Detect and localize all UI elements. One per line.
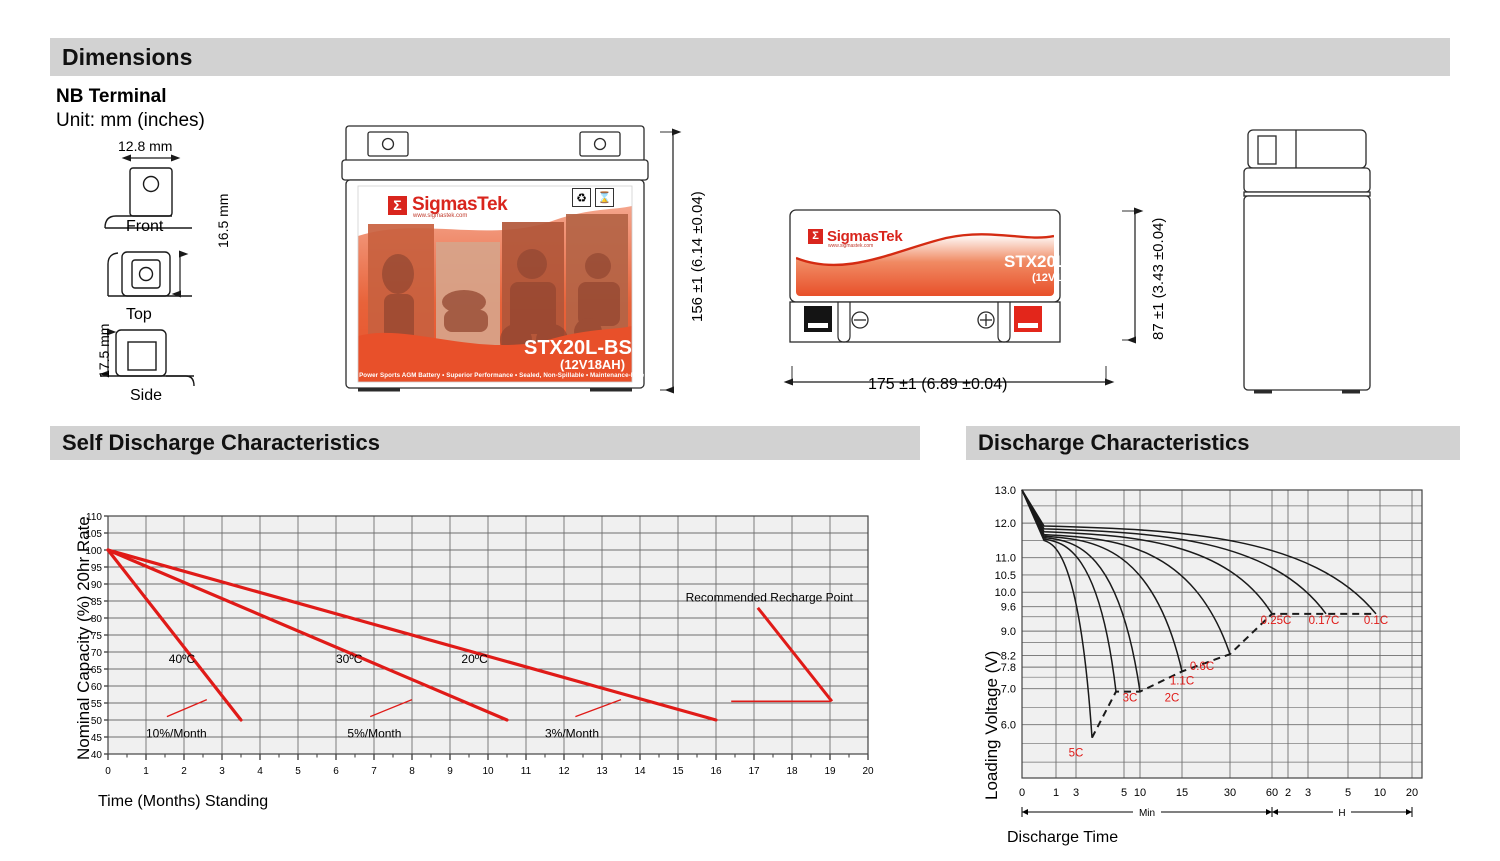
svg-text:15: 15 (1176, 787, 1188, 799)
svg-text:3: 3 (219, 766, 225, 777)
svg-text:14: 14 (634, 766, 646, 777)
svg-text:7: 7 (371, 766, 377, 777)
dimensions-title: Dimensions (62, 44, 192, 71)
svg-text:8.2: 8.2 (1001, 651, 1016, 663)
battery-height-dimension-line (660, 128, 686, 394)
label-icons-front: ♻ ⌛ (572, 188, 614, 207)
svg-text:3: 3 (1305, 787, 1311, 799)
svg-text:20: 20 (1406, 787, 1418, 799)
svg-text:2: 2 (181, 766, 187, 777)
svg-text:15: 15 (672, 766, 684, 777)
discharge-x-axis-title: Discharge Time (1007, 829, 1118, 847)
front-view-label: Front (126, 218, 163, 236)
svg-text:11: 11 (521, 766, 532, 777)
no-bin-icon: ⌛ (595, 188, 614, 207)
sigma-logo-icon-side: Σ (808, 229, 823, 244)
self-discharge-y-axis-title: Nominal Capacity (%) 20hr Rate (74, 516, 94, 760)
svg-text:0: 0 (105, 766, 111, 777)
svg-text:5%/Month: 5%/Month (347, 727, 401, 741)
svg-text:H: H (1338, 808, 1345, 819)
svg-text:9: 9 (447, 766, 453, 777)
self-discharge-title: Self Discharge Characteristics (62, 430, 380, 456)
svg-text:6: 6 (333, 766, 339, 777)
svg-text:9.0: 9.0 (1001, 626, 1016, 638)
terminal-depth-dim: 16.5 mm (215, 194, 231, 248)
unit-label: Unit: mm (inches) (56, 110, 205, 132)
svg-text:10: 10 (482, 766, 494, 777)
self-discharge-section-header: Self Discharge Characteristics (50, 426, 920, 460)
terminal-height-dim: 17.5 mm (96, 324, 112, 378)
svg-text:40ºC: 40ºC (169, 652, 196, 666)
svg-text:10: 10 (1134, 787, 1146, 799)
svg-text:5: 5 (295, 766, 301, 777)
discharge-y-axis-title: Loading Voltage (V) (982, 651, 1002, 800)
battery-side-height-dim-label: 87 ±1 (3.43 ±0.04) (1150, 218, 1167, 340)
terminal-width-dim: 12.8 mm (118, 138, 172, 154)
recycle-icon: ♻ (572, 188, 591, 207)
svg-text:12.0: 12.0 (995, 518, 1016, 530)
battery-side-height-dimension-line (1122, 208, 1148, 344)
svg-text:2C: 2C (1165, 693, 1180, 705)
svg-text:10.5: 10.5 (995, 570, 1016, 582)
svg-text:5: 5 (1121, 787, 1127, 799)
svg-text:7.0: 7.0 (1001, 684, 1016, 696)
svg-text:13: 13 (596, 766, 608, 777)
svg-text:18: 18 (786, 766, 798, 777)
svg-text:0: 0 (1019, 787, 1025, 799)
svg-text:20: 20 (862, 766, 874, 777)
svg-text:0.6C: 0.6C (1190, 661, 1214, 673)
battery-profile-view (1232, 126, 1384, 398)
discharge-title: Discharge Characteristics (978, 430, 1249, 456)
svg-text:7.8: 7.8 (1001, 662, 1016, 674)
dimensions-section-header: Dimensions (50, 38, 1450, 76)
svg-text:10.0: 10.0 (995, 587, 1016, 599)
brand-website-front: www.sigmastek.com (413, 213, 467, 219)
discharge-chart: 13.012.011.010.510.09.69.08.27.87.06.001… (970, 478, 1440, 818)
svg-text:0.17C: 0.17C (1309, 615, 1340, 627)
svg-text:Min: Min (1139, 808, 1155, 819)
side-view-label: Side (130, 387, 162, 405)
svg-text:Recommended Recharge Point: Recommended Recharge Point (686, 591, 854, 605)
svg-text:19: 19 (824, 766, 836, 777)
svg-text:3: 3 (1073, 787, 1079, 799)
svg-text:13.0: 13.0 (995, 485, 1016, 497)
battery-height-dim-label: 156 ±1 (6.14 ±0.04) (689, 191, 706, 322)
svg-text:1: 1 (143, 766, 149, 777)
svg-text:60: 60 (1266, 787, 1278, 799)
svg-text:6.0: 6.0 (1001, 720, 1016, 732)
tagline-front: • Power Sports AGM Battery • Superior Pe… (355, 372, 644, 379)
svg-text:11.0: 11.0 (995, 553, 1016, 565)
svg-text:10: 10 (1374, 787, 1386, 799)
svg-text:17: 17 (748, 766, 760, 777)
sigma-logo-icon: Σ (388, 196, 407, 215)
svg-text:30: 30 (1224, 787, 1236, 799)
self-discharge-chart: 4045505560657075808590951001051100123456… (60, 500, 880, 800)
svg-text:10%/Month: 10%/Month (146, 727, 207, 741)
svg-text:4: 4 (257, 766, 263, 777)
svg-text:8: 8 (409, 766, 415, 777)
svg-text:30ºC: 30ºC (336, 652, 363, 666)
svg-text:16: 16 (710, 766, 722, 777)
svg-text:2: 2 (1285, 787, 1291, 799)
battery-length-dim-label: 175 ±1 (6.89 ±0.04) (868, 376, 1007, 394)
svg-text:9.6: 9.6 (1001, 602, 1016, 614)
svg-text:5: 5 (1345, 787, 1351, 799)
discharge-section-header: Discharge Characteristics (966, 426, 1460, 460)
svg-text:3%/Month: 3%/Month (545, 727, 599, 741)
model-spec-side: (12V18AH) (1032, 272, 1087, 284)
model-name-side: STX20L-BS (1004, 252, 1096, 272)
svg-text:5C: 5C (1069, 747, 1084, 759)
top-view-label: Top (126, 306, 152, 324)
svg-text:0.1C: 0.1C (1364, 615, 1388, 627)
svg-text:1: 1 (1053, 787, 1059, 799)
model-spec-front: (12V18AH) (560, 357, 625, 372)
self-discharge-x-axis-title: Time (Months) Standing (98, 793, 268, 811)
nb-terminal-title: NB Terminal (56, 86, 167, 108)
svg-text:12: 12 (558, 766, 570, 777)
svg-text:0.25C: 0.25C (1261, 615, 1292, 627)
brand-website-side: www.sigmastek.com (828, 243, 873, 249)
svg-text:3C: 3C (1123, 693, 1138, 705)
svg-text:1.1C: 1.1C (1170, 675, 1194, 687)
svg-text:20ºC: 20ºC (461, 652, 488, 666)
